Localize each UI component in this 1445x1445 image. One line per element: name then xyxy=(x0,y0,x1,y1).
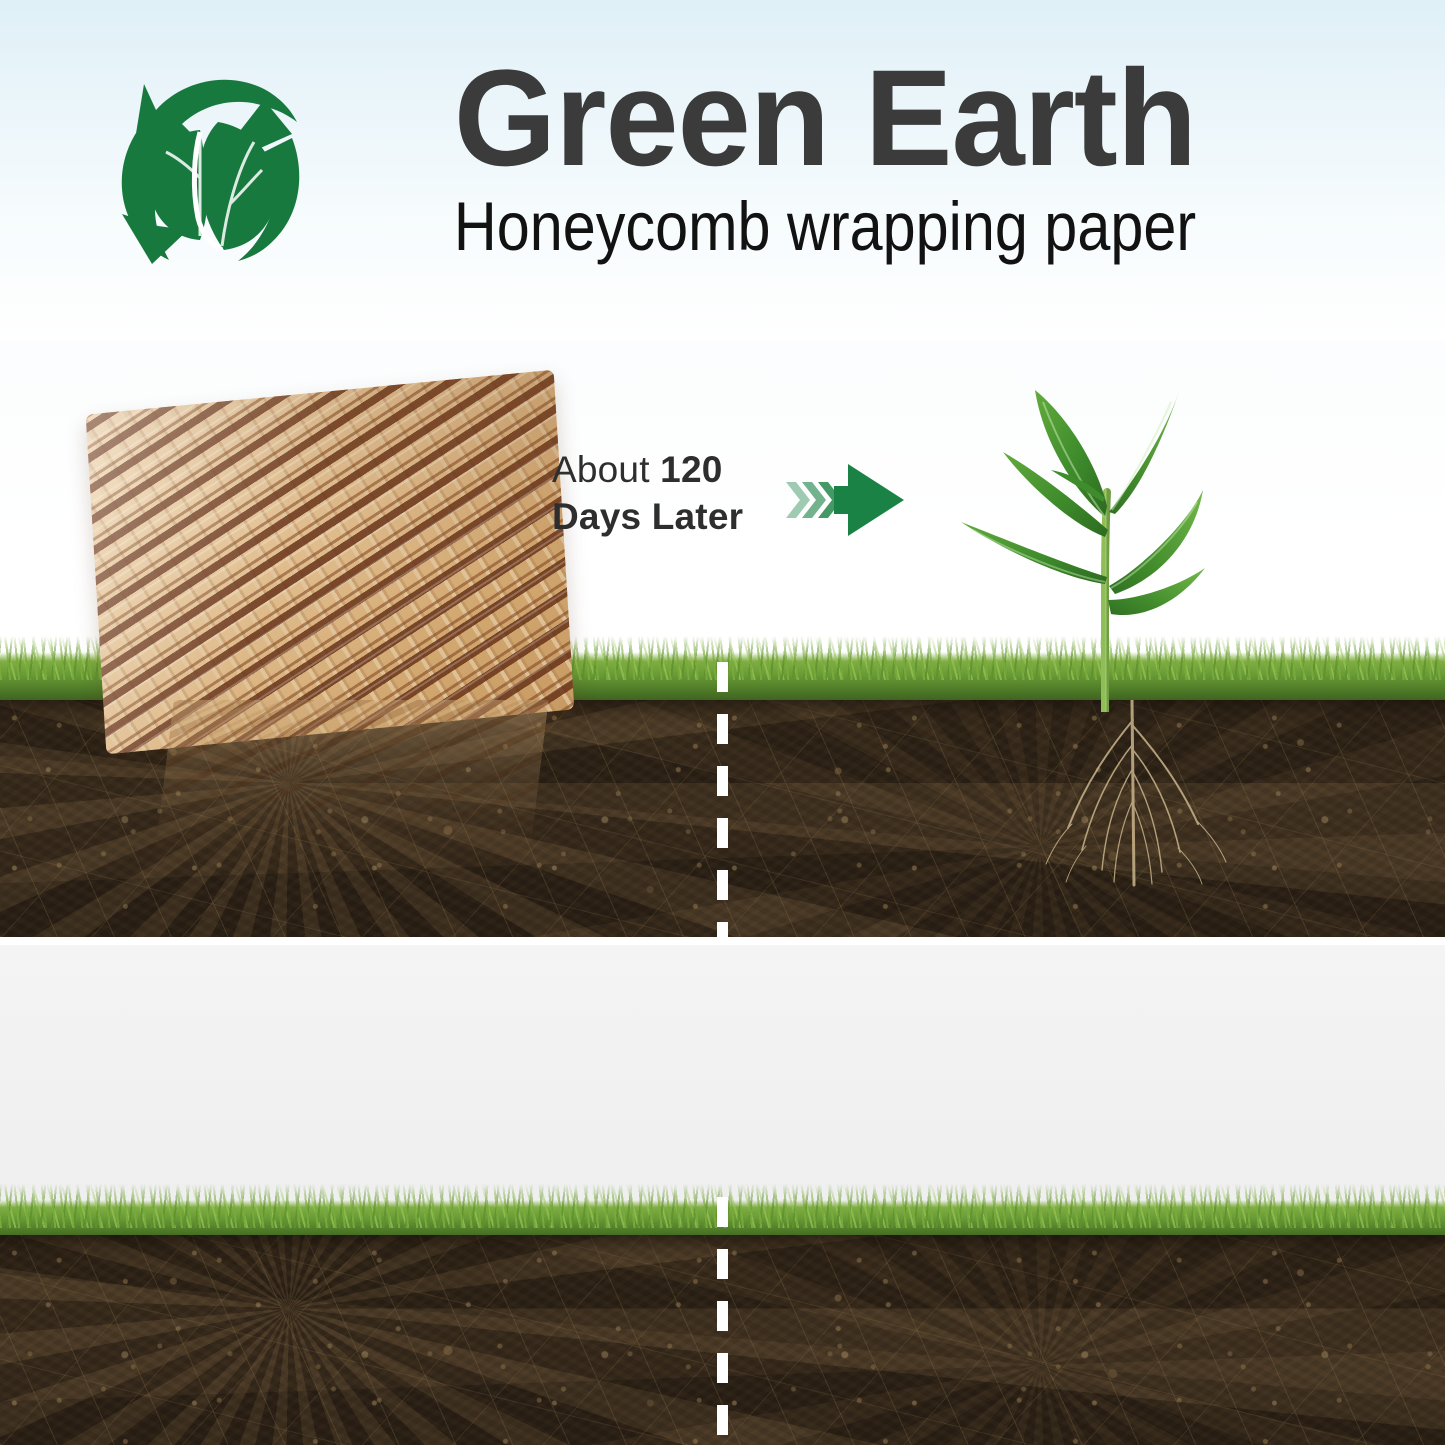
timeframe-days-value: 120 xyxy=(660,449,722,490)
panel-divider-dashed-line xyxy=(717,662,728,937)
page-subtitle: Honeycomb wrapping paper xyxy=(399,192,1250,261)
buried-honeycomb-paper xyxy=(152,700,548,875)
green-seedling xyxy=(955,372,1285,712)
header-banner: Green Earth Honeycomb wrapping paper xyxy=(0,0,1445,340)
seedling-root-system xyxy=(1012,700,1262,890)
brand-text-block: Green Earth Honeycomb wrapping paper xyxy=(330,52,1320,292)
timeframe-line-1: About 120 xyxy=(552,446,782,493)
recycle-leaves-logo-icon xyxy=(96,58,311,273)
timeframe-line-2: Days Later xyxy=(552,493,782,540)
seedling-svg xyxy=(955,372,1285,712)
honeycomb-paper-texture xyxy=(86,370,575,755)
honeycomb-paper-sheet xyxy=(95,392,565,732)
page-title: Green Earth xyxy=(350,52,1300,186)
panel-separator xyxy=(0,937,1445,945)
timeframe-label-honeycomb: About 120 Days Later xyxy=(552,446,782,540)
header-content: Green Earth Honeycomb wrapping paper xyxy=(0,0,1445,340)
logo-svg xyxy=(96,58,311,273)
bubble-wrap-comparison-panel: About 120 Days Later xyxy=(0,945,1445,1445)
infographic-canvas: About 120 Days Later xyxy=(0,0,1445,1445)
green-chevron-arrow-right-icon xyxy=(786,458,912,542)
timeframe-prefix: About xyxy=(552,449,660,490)
green-arrow-svg xyxy=(786,458,912,542)
roots-svg xyxy=(1012,700,1262,890)
panel-divider-dashed-line xyxy=(717,1197,728,1445)
